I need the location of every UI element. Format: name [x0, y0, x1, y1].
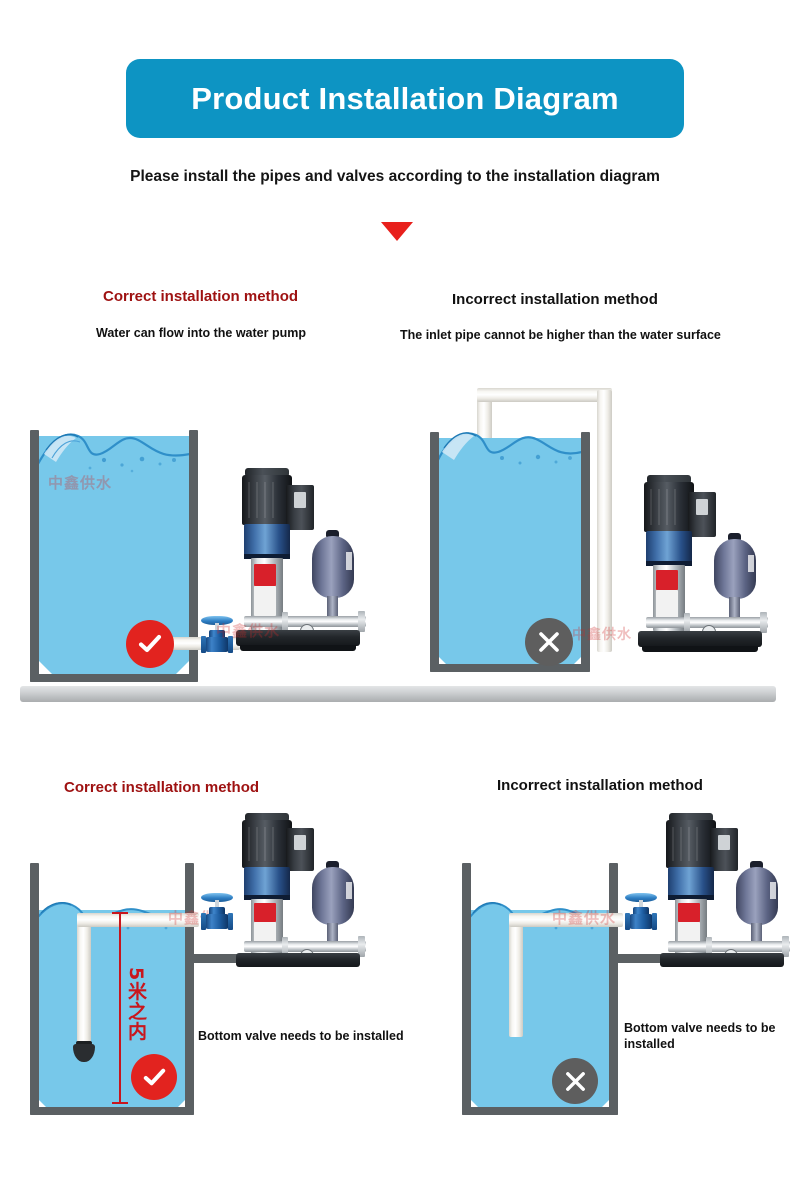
pump-label-red-tr: [656, 570, 678, 590]
vfd-screen-tl: [294, 492, 306, 508]
vfd-screen-bl: [294, 835, 306, 850]
tank-floor-tl: [30, 674, 198, 682]
motor-fin-br: [696, 827, 698, 861]
motor-fin-br: [680, 827, 682, 861]
pressure-tank-strip-bl: [346, 882, 352, 899]
valve-flange-left-tl: [201, 636, 206, 653]
pump-motor-br: [666, 820, 716, 868]
motor-fin-tl: [272, 482, 274, 518]
pump-label-white-tr: [656, 590, 678, 618]
check-badge-bl: [131, 1054, 177, 1100]
vfd-screen-br: [718, 835, 730, 850]
motor-fin-bl: [248, 827, 250, 861]
motor-fin-br: [672, 827, 674, 861]
cross-icon: [563, 1069, 588, 1094]
pump-motor-tl: [242, 475, 292, 525]
suction-pipe-horizontal-br: [509, 913, 623, 927]
pump-assembly-bl: [226, 813, 366, 963]
heading-incorrect-top: Incorrect installation method: [452, 291, 658, 308]
tank-wall-right-tr: [581, 432, 590, 672]
motor-fin-tl: [264, 482, 266, 518]
pump-base-tr: [638, 631, 762, 647]
cross-badge-br: [552, 1058, 598, 1104]
motor-fin-tr: [658, 489, 660, 525]
suction-pipe-horizontal-bl: [77, 913, 199, 927]
header-banner: Product Installation Diagram: [126, 59, 684, 138]
tank-wall-left-bl: [30, 863, 39, 1115]
pump-base-br: [660, 953, 784, 967]
heading-correct-bottom: Correct installation method: [64, 779, 259, 796]
pump-head-bl: [244, 867, 290, 897]
motor-fin-bl: [256, 827, 258, 861]
manifold-flange-mid-tr: [684, 613, 690, 632]
pump-base-foot-tl: [240, 645, 356, 651]
dimension-line-bl: [119, 912, 121, 1104]
check-icon: [141, 1064, 168, 1091]
heading-incorrect-bottom: Incorrect installation method: [497, 777, 703, 794]
valve-flange-left-br: [625, 913, 630, 930]
motor-fin-bl: [264, 827, 266, 861]
riser-pipe-outside-tr: [597, 390, 612, 652]
tank-wall-left-tr: [430, 432, 439, 672]
page-title: Product Installation Diagram: [191, 81, 619, 117]
pump-head-br: [668, 867, 714, 897]
triangle-down-icon: [381, 222, 413, 241]
suction-pipe-vertical-bl: [77, 915, 91, 1045]
motor-fin-tr: [674, 489, 676, 525]
pump-base-tl: [236, 630, 360, 646]
tank-floor-bl: [30, 1107, 194, 1115]
diagram-bottom-right: 中鑫供水: [420, 855, 790, 1135]
pump-head-tl: [244, 524, 290, 556]
tank-wall-right-bl: [185, 863, 194, 1115]
pump-assembly-br: [650, 813, 790, 963]
heading-correct-top: Correct installation method: [103, 288, 298, 305]
diagram-top-right: 中鑫供水: [420, 380, 780, 692]
installation-diagram-page: Product Installation Diagram Please inst…: [0, 0, 790, 1198]
pressure-tank-strip-br: [770, 882, 776, 899]
check-badge-tl: [126, 620, 174, 668]
suction-pipe-vertical-br: [509, 915, 523, 1037]
pressure-tank-strip-tl: [346, 552, 352, 570]
description-correct-top: Water can flow into the water pump: [96, 326, 306, 340]
manifold-flange-tr: [760, 612, 767, 633]
motor-fin-bl: [272, 827, 274, 861]
check-icon: [136, 630, 164, 658]
valve-flange-left-bl: [201, 913, 206, 930]
pump-assembly-tr: [628, 475, 768, 675]
motor-fin-tl: [248, 482, 250, 518]
tank-wall-left-br: [462, 863, 471, 1115]
dimension-cap-bottom-bl: [112, 1102, 128, 1104]
pump-head-tr: [646, 531, 692, 563]
manifold-flange-mid-tl: [282, 612, 288, 631]
pump-label-red-bl: [254, 903, 276, 922]
dimension-label-bl: 5米之内: [123, 967, 150, 1041]
motor-fin-tr: [650, 489, 652, 525]
cross-icon: [536, 629, 562, 655]
cross-badge-tr: [525, 618, 573, 666]
pressure-tank-neck-bl: [327, 923, 338, 941]
pressure-tank-neck-tr: [729, 597, 740, 617]
page-subtitle: Please install the pipes and valves acco…: [0, 168, 790, 186]
pump-base-foot-tr: [642, 646, 758, 652]
pressure-tank-neck-br: [751, 923, 762, 941]
pump-base-bl: [236, 953, 360, 967]
description-incorrect-top: The inlet pipe cannot be higher than the…: [400, 328, 721, 342]
pressure-tank-strip-tr: [748, 555, 754, 572]
motor-fin-tr: [666, 489, 668, 525]
diagram-top-left: 中鑫供水: [20, 424, 370, 690]
pump-label-red-tl: [254, 564, 276, 586]
pump-label-red-br: [678, 903, 700, 922]
vfd-screen-tr: [696, 499, 708, 515]
pressure-tank-neck-tl: [327, 596, 338, 616]
pump-motor-bl: [242, 820, 292, 868]
tank-floor-br: [462, 1107, 618, 1115]
pump-label-white-tl: [254, 586, 276, 616]
tank-wall-left-tl: [30, 430, 39, 682]
motor-fin-tl: [256, 482, 258, 518]
diagram-bottom-left: 5米之内 中鑫供水: [20, 855, 420, 1135]
pump-assembly-tl: [226, 468, 366, 680]
manifold-flange-tl: [358, 611, 365, 632]
tank-wall-right-br: [609, 863, 618, 1115]
motor-fin-br: [688, 827, 690, 861]
pipe-top-horizontal-tr: [477, 388, 612, 402]
pump-motor-tr: [644, 482, 694, 532]
tank-floor-tr: [430, 664, 590, 672]
